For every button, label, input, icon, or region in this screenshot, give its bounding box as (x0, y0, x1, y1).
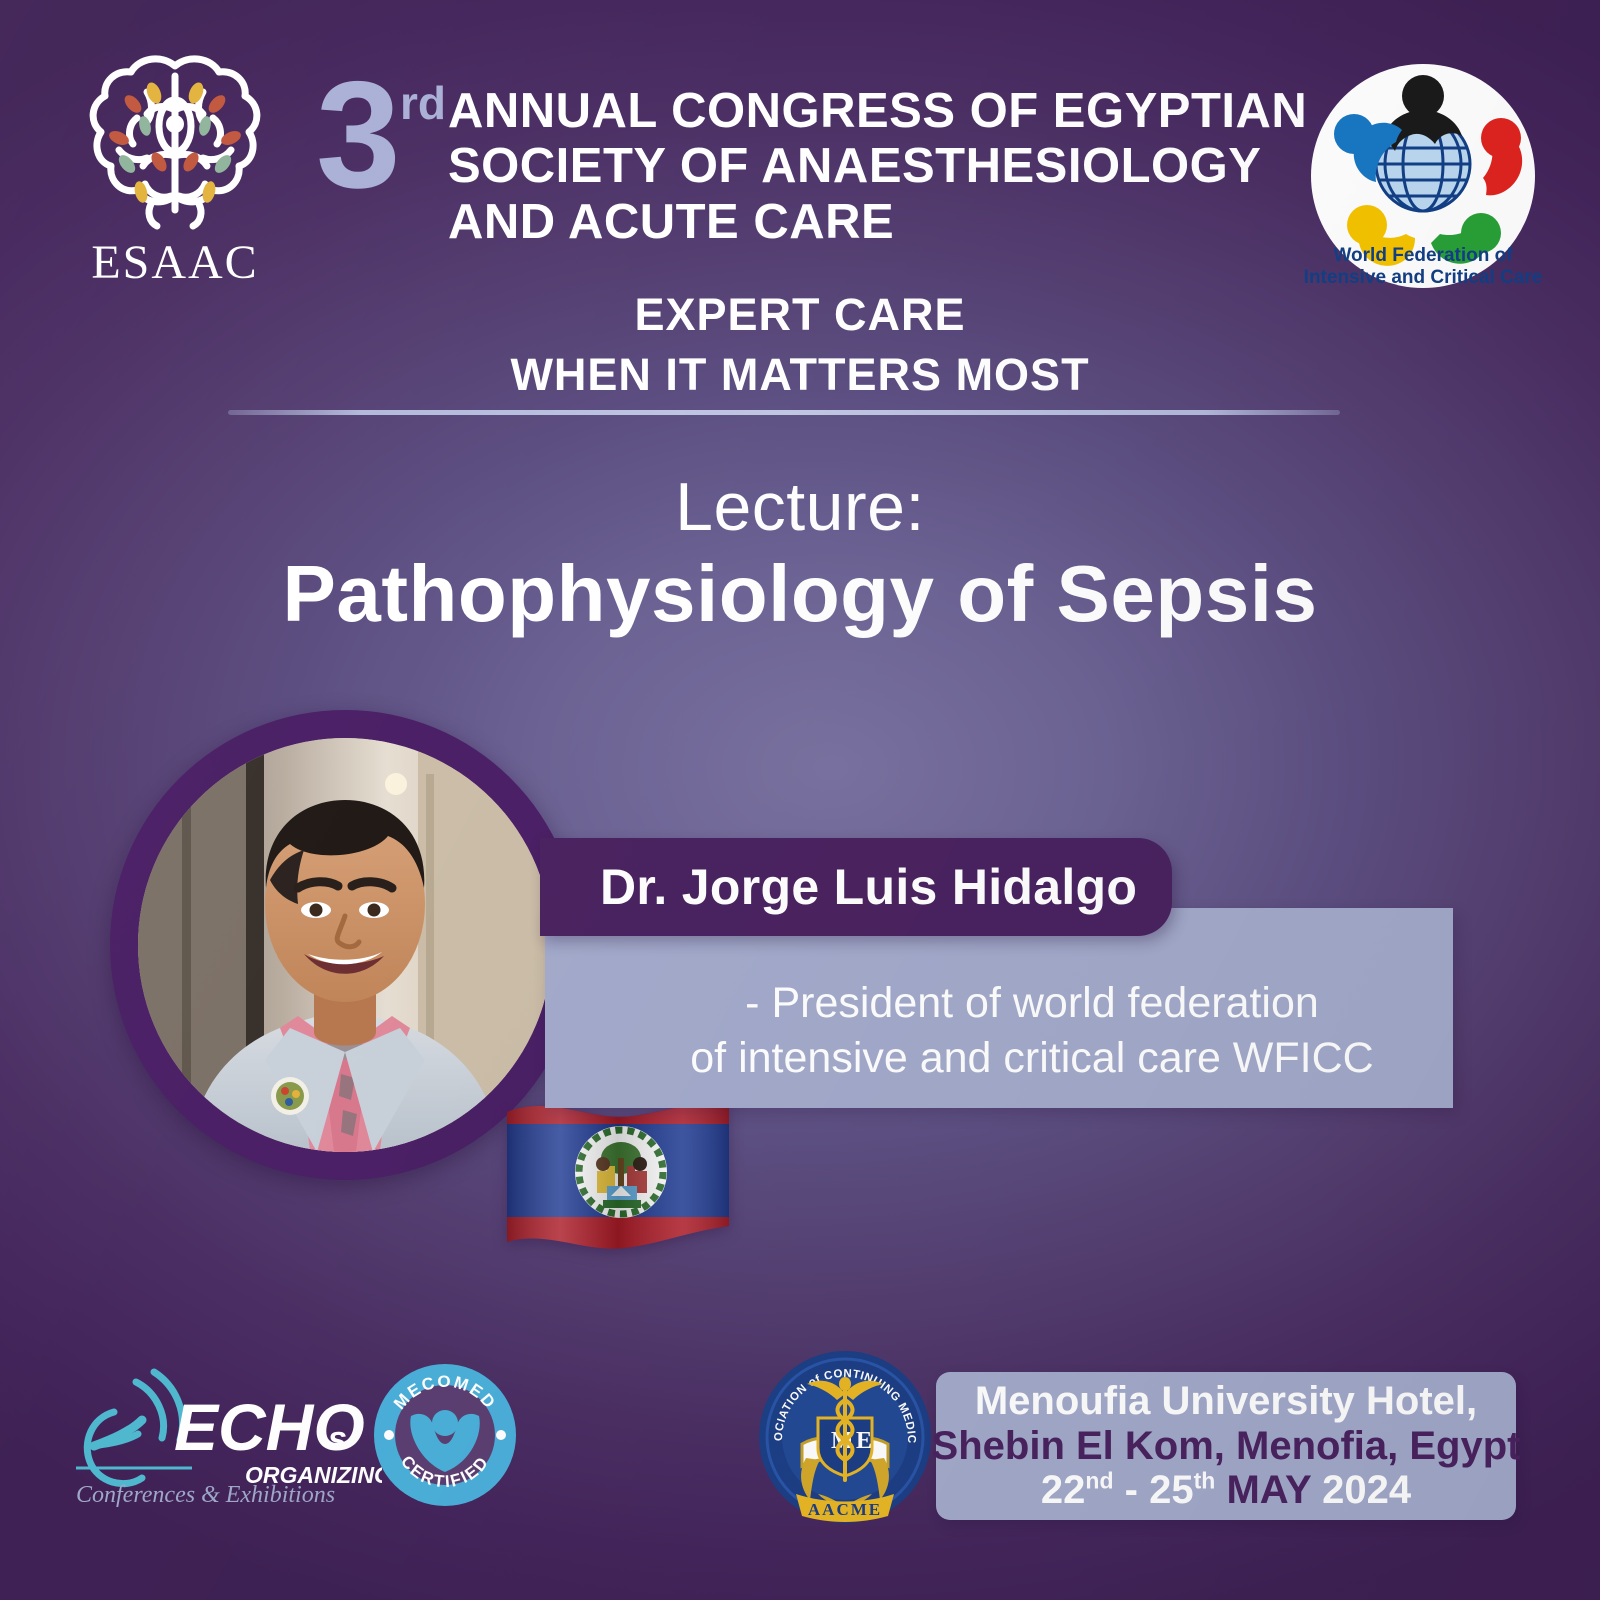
venue-dates: 22nd - 25th MAY 2024 (1041, 1468, 1411, 1513)
speaker-bio-line-1: - President of world federation (545, 976, 1453, 1031)
wficc-logo: World Federation of Intensive and Critic… (1298, 58, 1548, 308)
echos-organizer-logo: ECHO s ORGANIZING Conferences & Exhibiti… (62, 1350, 382, 1520)
lecture-label: Lecture: (0, 468, 1600, 546)
date-year: 2024 (1322, 1468, 1411, 1512)
tagline-line-1: EXPERT CARE (0, 285, 1600, 345)
date-from: 22 (1041, 1468, 1086, 1512)
congress-title-block: 3 rd ANNUAL CONGRESS OF EGYPTIAN SOCIETY… (316, 66, 1296, 250)
aacme-letter-e: E (856, 1428, 872, 1454)
speaker-name: Dr. Jorge Luis Hidalgo (540, 858, 1137, 916)
venue-line-2: Shebin El Kom, Menofia, Egypt (932, 1424, 1521, 1469)
avatar (138, 738, 552, 1152)
esaac-wordmark: ESAAC (60, 239, 290, 287)
ordinal-suffix: rd (400, 76, 446, 130)
brain-mandala-icon (75, 52, 275, 237)
section-divider (228, 410, 1340, 415)
mecomed-certified-badge: MECOMED CERTIFIED (370, 1360, 520, 1510)
belize-flag (503, 1088, 733, 1253)
esaac-logo: ESAAC (60, 52, 290, 292)
event-poster: ESAAC 3 rd ANNUAL CONGRESS OF EGYPTIAN S… (0, 0, 1600, 1600)
congress-title-line-3: AND ACUTE CARE (448, 195, 1307, 250)
globe-people-icon: World Federation of Intensive and Critic… (1298, 58, 1548, 308)
lecture-title: Pathophysiology of Sepsis (0, 548, 1600, 640)
ordinal-block: 3 rd (316, 66, 448, 206)
speaker-bio-line-2: of intensive and critical care WFICC (545, 1031, 1453, 1086)
person-check-icon: MECOMED CERTIFIED (370, 1360, 520, 1510)
echos-wordmark-suffix: s (328, 1420, 347, 1458)
date-from-suffix: nd (1085, 1468, 1113, 1494)
speaker-bio-box: - President of world federation of inten… (545, 908, 1453, 1108)
congress-title-line-1: ANNUAL CONGRESS OF EGYPTIAN (448, 84, 1307, 139)
event-tagline: EXPERT CARE WHEN IT MATTERS MOST (0, 285, 1600, 405)
aacme-seal: AMERICAN ASSOCIATION of CONTINUING MEDIC… (756, 1348, 934, 1526)
speaker-portrait-icon (138, 738, 552, 1152)
echos-tagline: Conferences & Exhibitions (76, 1482, 335, 1508)
venue-info-box: Menoufia University Hotel, Shebin El Kom… (936, 1372, 1516, 1520)
date-month: MAY (1226, 1468, 1311, 1512)
belize-flag-icon (503, 1088, 733, 1253)
date-to: 25 (1149, 1468, 1194, 1512)
aacme-ribbon-text: AACME (808, 1500, 882, 1519)
wficc-label-line-1: World Federation of (1333, 245, 1513, 266)
speaker-name-banner: Dr. Jorge Luis Hidalgo (540, 838, 1172, 936)
date-to-suffix: th (1194, 1468, 1216, 1494)
date-separator: - (1125, 1468, 1138, 1512)
tagline-line-2: WHEN IT MATTERS MOST (0, 345, 1600, 405)
echos-swirl-icon: ECHO s ORGANIZING Conferences & Exhibiti… (62, 1350, 382, 1520)
congress-title-line-2: SOCIETY OF ANAESTHESIOLOGY (448, 139, 1307, 194)
congress-title-lines: ANNUAL CONGRESS OF EGYPTIAN SOCIETY OF A… (448, 66, 1307, 250)
venue-line-1: Menoufia University Hotel, (975, 1379, 1477, 1424)
caduceus-book-seal-icon: AMERICAN ASSOCIATION of CONTINUING MEDIC… (756, 1348, 934, 1526)
